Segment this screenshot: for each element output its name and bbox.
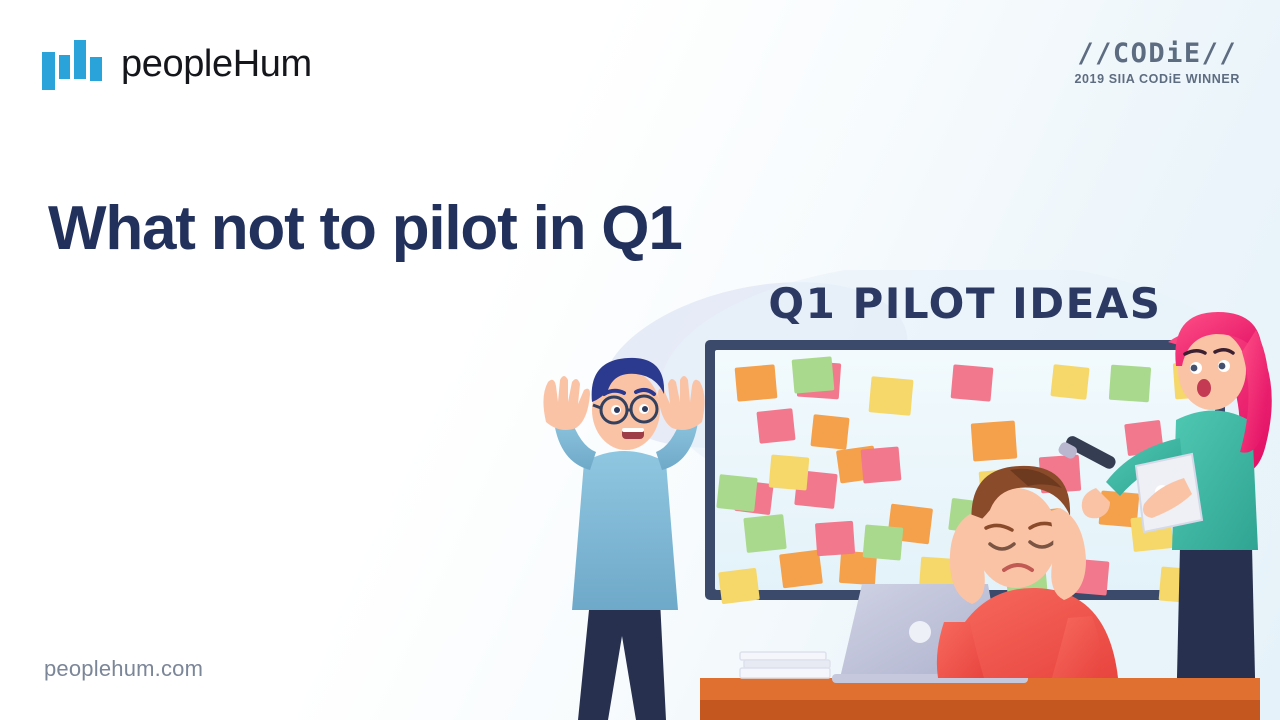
peoplehum-bars-logo-icon <box>42 38 108 90</box>
slide-canvas: peopleHum //CODiE// 2019 SIIA CODiE WINN… <box>0 0 1280 720</box>
brand-name: peopleHum <box>121 45 312 83</box>
desk <box>700 678 1260 720</box>
award-badge-title: //CODiE// <box>1074 40 1240 68</box>
brand-logo[interactable]: peopleHum <box>42 38 312 90</box>
codie-award-badge: //CODiE// 2019 SIIA CODiE WINNER <box>1074 40 1240 86</box>
award-badge-subtitle: 2019 SIIA CODiE WINNER <box>1074 72 1240 86</box>
page-title: What not to pilot in Q1 <box>48 194 848 263</box>
character-man-with-glasses <box>543 358 704 720</box>
whiteboard-heading: Q1 PILOT IDEAS <box>768 279 1161 328</box>
paper-stack <box>740 652 830 678</box>
site-url: peoplehum.com <box>44 656 203 682</box>
illustration-scene: Q1 PILOT IDEAS <box>540 270 1280 720</box>
